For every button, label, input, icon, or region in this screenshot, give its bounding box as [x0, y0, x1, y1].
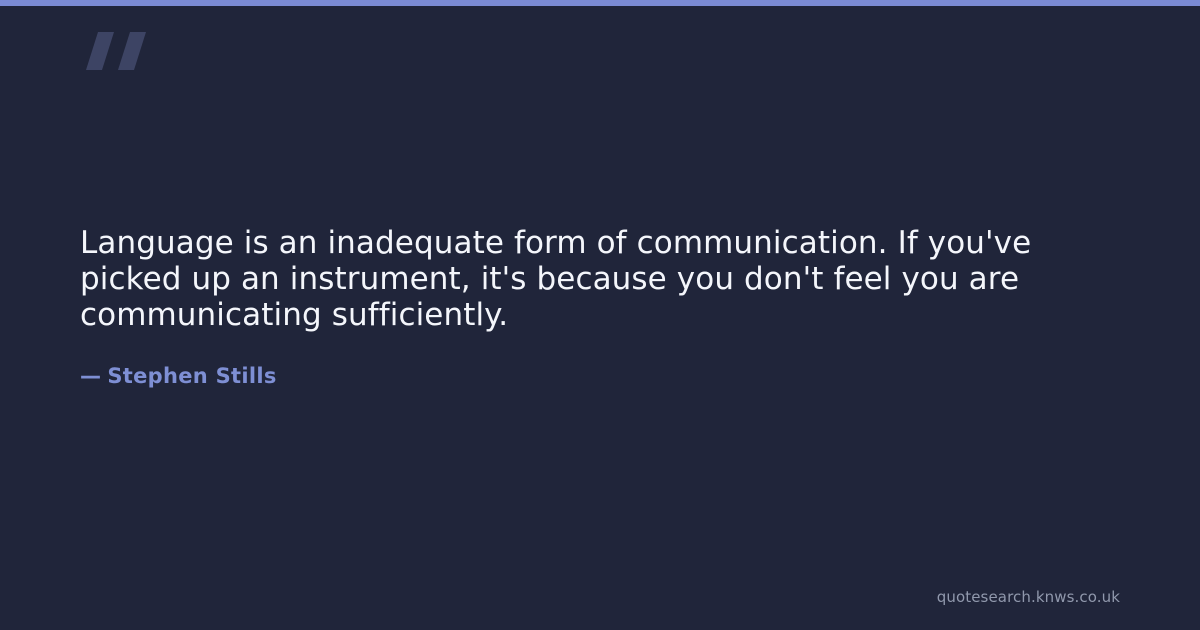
double-quote-icon [80, 22, 160, 86]
quote-card: Language is an inadequate form of commun… [0, 0, 1200, 630]
quote-text: Language is an inadequate form of commun… [80, 225, 1070, 333]
top-accent-bar [0, 0, 1200, 6]
quote-content: Language is an inadequate form of commun… [80, 225, 1080, 389]
source-url: quotesearch.knws.co.uk [937, 588, 1120, 606]
attribution-dash: — [80, 364, 107, 388]
footer: quotesearch.knws.co.uk [937, 587, 1120, 606]
quote-attribution: —Stephen Stills [80, 333, 1080, 389]
attribution-author: Stephen Stills [107, 364, 276, 388]
